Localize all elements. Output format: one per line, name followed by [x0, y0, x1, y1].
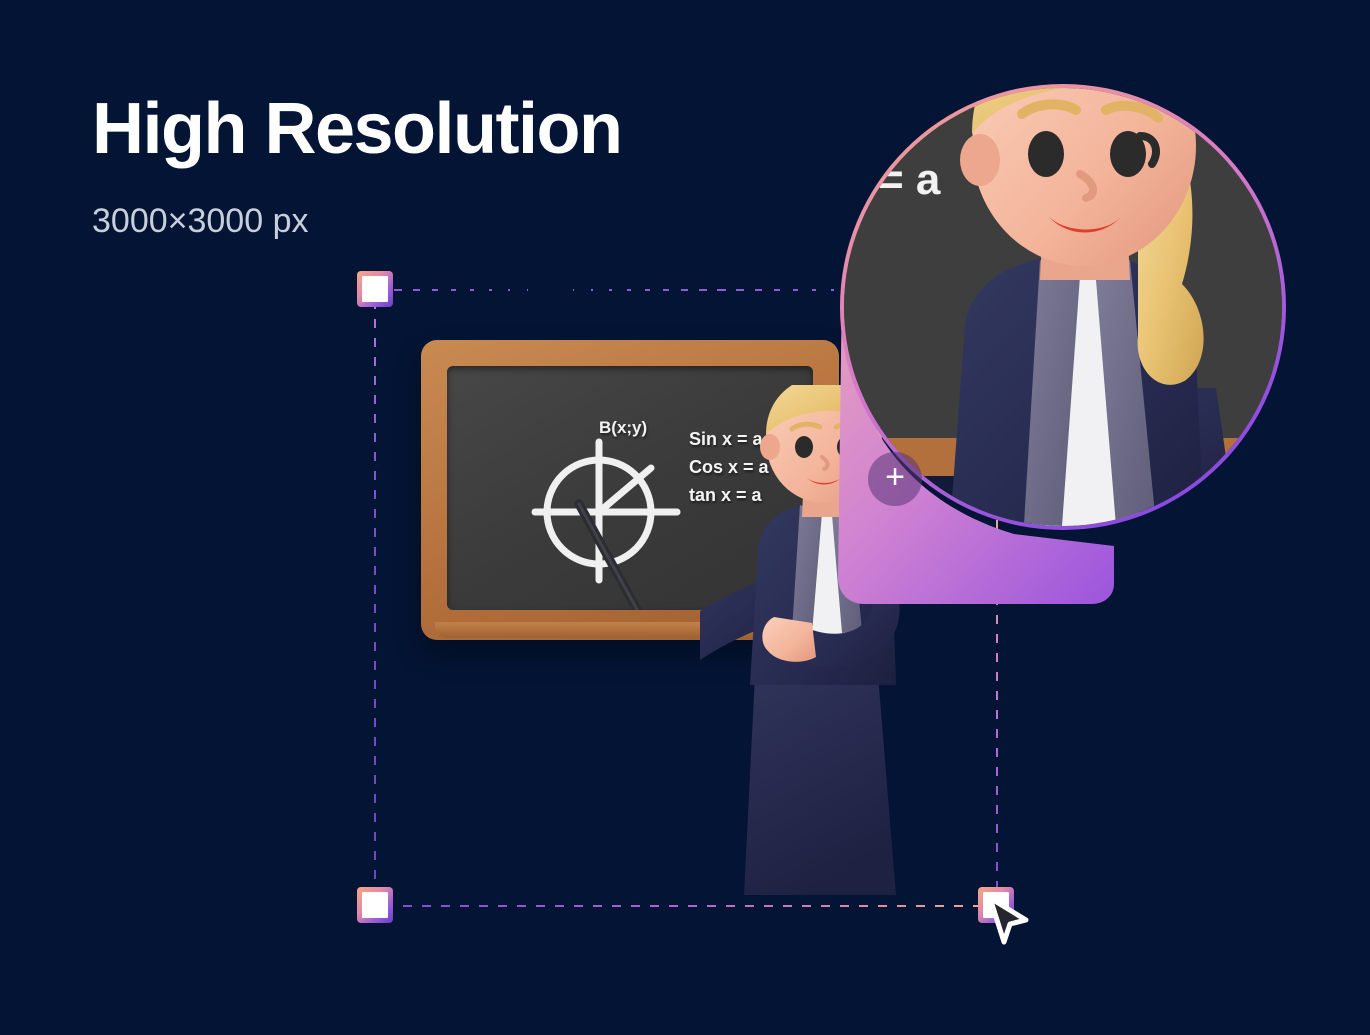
handle-fill	[362, 276, 388, 302]
pointer-cursor-icon[interactable]	[985, 895, 1031, 949]
canvas-stage: High Resolution 3000×3000 px B(x;y) Sin …	[0, 0, 1370, 1035]
skirt	[744, 675, 896, 895]
zoom-in-button[interactable]: +	[868, 452, 922, 506]
heading-block: High Resolution 3000×3000 px	[92, 92, 792, 241]
page-title: High Resolution	[92, 92, 792, 168]
page-subtitle-dimensions: 3000×3000 px	[92, 202, 792, 241]
handle-bottom-left[interactable]	[357, 887, 393, 923]
zoom-in-icon: +	[885, 460, 905, 494]
ear	[760, 434, 780, 460]
selection-edge-left[interactable]	[374, 300, 376, 892]
left-eye	[795, 436, 813, 458]
pointer-stick	[565, 498, 685, 610]
handle-top-left[interactable]	[357, 271, 393, 307]
lens-board-fragment: = a	[878, 155, 941, 204]
zoom-preview-lens[interactable]: = a	[840, 84, 1286, 530]
selection-edge-bottom[interactable]	[384, 905, 980, 907]
handle-fill	[362, 892, 388, 918]
